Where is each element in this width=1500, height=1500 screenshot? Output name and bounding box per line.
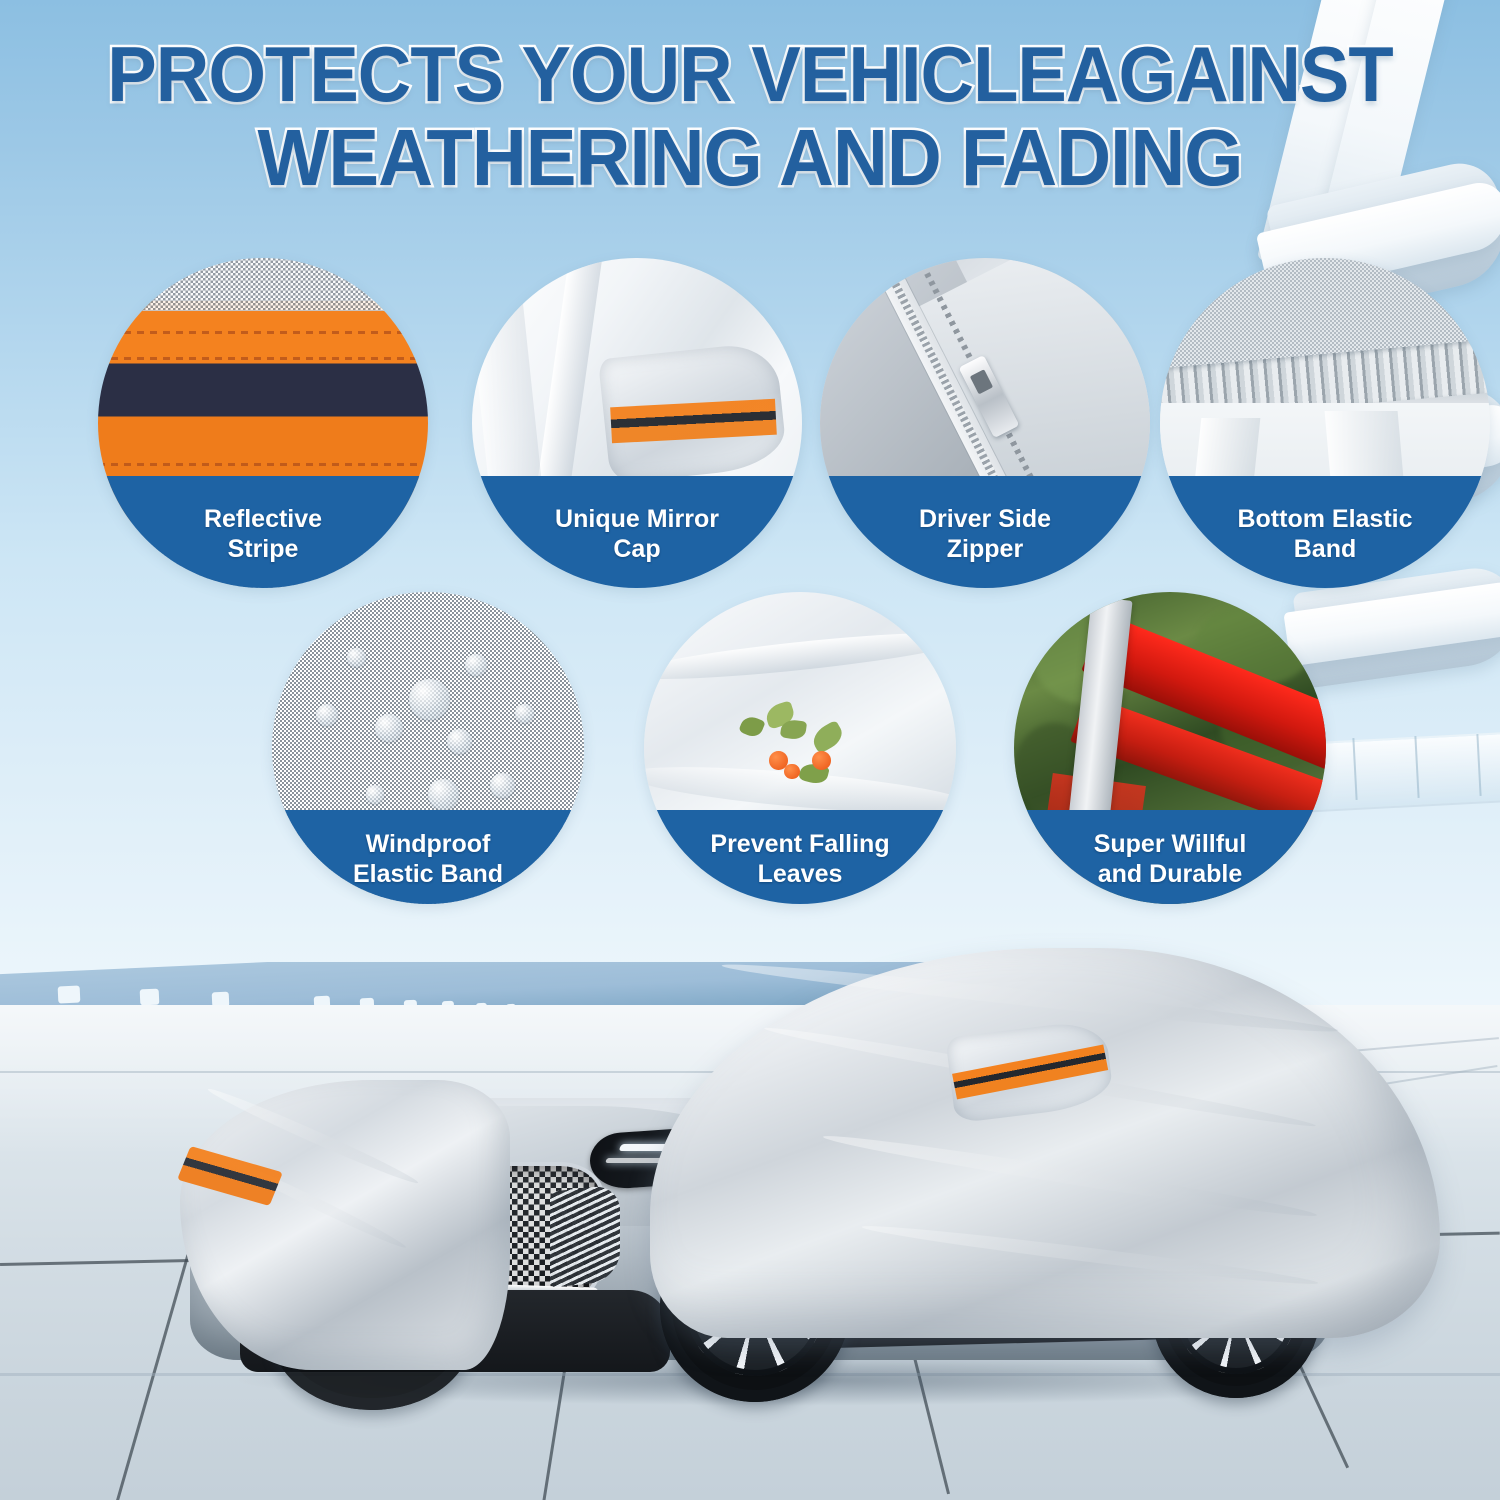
product-infographic: PROTECTS YOUR VEHICLEAGAINST WEATHERING … <box>0 0 1500 1500</box>
hero-car-with-cover <box>120 930 1450 1450</box>
car-cover-front <box>180 1080 510 1370</box>
feature-reflective-stripe[interactable]: Reflective Stripe <box>98 258 428 588</box>
bumper-vent <box>550 1184 620 1287</box>
feature-unique-mirror-cap[interactable]: Unique Mirror Cap <box>472 258 802 588</box>
prevent-falling-leaves-banner: Prevent Falling Leaves <box>644 810 956 904</box>
headline-line-2: WEATHERING AND FADING <box>38 116 1463 200</box>
windproof-elastic-band-banner: Windproof Elastic Band <box>272 810 584 904</box>
feature-label: Driver Side Zipper <box>919 504 1051 564</box>
feature-windproof-elastic-band[interactable]: Windproof Elastic Band <box>272 592 584 904</box>
unique-mirror-cap-banner: Unique Mirror Cap <box>472 476 802 588</box>
headline: PROTECTS YOUR VEHICLEAGAINST WEATHERING … <box>0 32 1500 200</box>
feature-super-willful-and-durable[interactable]: Super Willful and Durable <box>1014 592 1326 904</box>
headline-line-1: PROTECTS YOUR VEHICLEAGAINST <box>38 32 1463 116</box>
reflective-stripe-banner: Reflective Stripe <box>98 476 428 588</box>
feature-driver-side-zipper[interactable]: Driver Side Zipper <box>820 258 1150 588</box>
feature-label: Prevent Falling Leaves <box>710 829 889 889</box>
bottom-elastic-band-banner: Bottom Elastic Band <box>1160 476 1490 588</box>
feature-bottom-elastic-band[interactable]: Bottom Elastic Band <box>1160 258 1490 588</box>
feature-prevent-falling-leaves[interactable]: Prevent Falling Leaves <box>644 592 956 904</box>
feature-label: Super Willful and Durable <box>1094 829 1247 889</box>
feature-label: Bottom Elastic Band <box>1237 504 1412 564</box>
super-willful-and-durable-banner: Super Willful and Durable <box>1014 810 1326 904</box>
feature-label: Windproof Elastic Band <box>353 829 503 889</box>
driver-side-zipper-banner: Driver Side Zipper <box>820 476 1150 588</box>
mirror-reflective-stripe <box>952 1045 1108 1100</box>
feature-label: Unique Mirror Cap <box>555 504 719 564</box>
feature-label: Reflective Stripe <box>204 504 322 564</box>
